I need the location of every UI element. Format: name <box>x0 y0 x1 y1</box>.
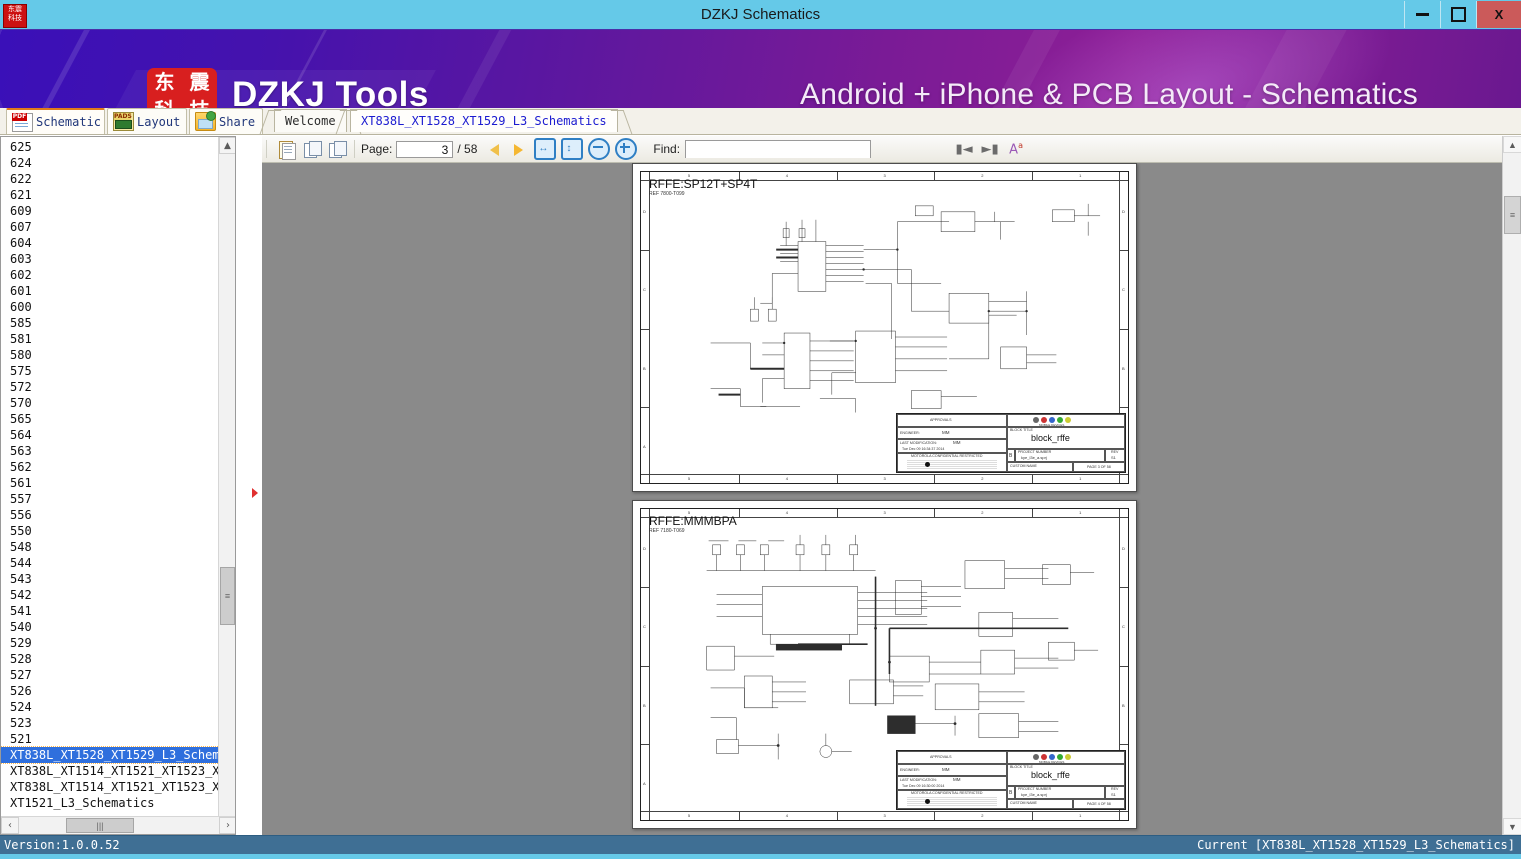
tree-item-number[interactable]: 570 <box>1 395 219 411</box>
pdf-viewer[interactable]: 54321 54321 DCBA DCBA RFFE:SP12T+SP4T RE… <box>262 163 1502 835</box>
tree-item-number[interactable]: 604 <box>1 235 219 251</box>
next-page-button[interactable] <box>507 139 529 160</box>
status-bar: Version:1.0.0.52 Current [XT838L_XT1528_… <box>0 835 1521 859</box>
banner-tagline: Android + iPhone & PCB Layout - Schemati… <box>800 78 1418 108</box>
rev-label: REV <box>1111 450 1118 454</box>
pdf-toolbar: Page: 3 / 58 ↔ ↕ Find: ▮◄ ►▮ <box>262 136 1521 163</box>
project-number-value: kye_l3e_a.sprj <box>1021 455 1047 460</box>
custom-name-label: CUSTOM NAME <box>1010 464 1037 468</box>
tree-item-number[interactable]: 556 <box>1 507 219 523</box>
grip-icon: ||| <box>96 821 103 831</box>
viewer-scroll-up-button[interactable]: ▲ <box>1503 136 1521 153</box>
copyright-icon <box>925 462 930 467</box>
circuit-diagram <box>651 184 1118 432</box>
chevron-left-icon: ‹ <box>8 820 12 831</box>
tree-item-number[interactable]: 585 <box>1 315 219 331</box>
tree-item-number[interactable]: 543 <box>1 571 219 587</box>
tree-item-number[interactable]: 548 <box>1 539 219 555</box>
doc-tab-welcome[interactable]: Welcome <box>274 109 347 132</box>
tree-item-file[interactable]: XT838L_XT1514_XT1521_XT1523_XT1524_XT1 <box>1 779 219 795</box>
ruler-tick <box>837 812 838 820</box>
ruler-tick <box>1120 329 1128 330</box>
tree-item-number[interactable]: 624 <box>1 155 219 171</box>
rev-label: REV <box>1111 787 1118 791</box>
ruler-tick <box>1032 475 1033 483</box>
tree-item-number[interactable]: 563 <box>1 443 219 459</box>
ruler-tick <box>837 475 838 483</box>
tree-horizontal-scrollbar[interactable]: ‹ ||| › <box>1 816 236 834</box>
block-title-label: BLOCK TITLE <box>1010 765 1033 769</box>
ruler-tick <box>837 509 838 517</box>
tree-item-file[interactable]: XT1521_L3_Schematics <box>1 795 219 811</box>
mode-tab-label: Share <box>219 115 255 129</box>
tree-item-number[interactable]: 523 <box>1 715 219 731</box>
window-title: DZKJ Schematics <box>0 0 1521 30</box>
tree-item-number[interactable]: 528 <box>1 651 219 667</box>
project-number-label: PROJECT NUMBER <box>1018 787 1051 791</box>
ruler-tick <box>1120 744 1128 745</box>
logo-char: 震 <box>190 72 210 92</box>
tree-vertical-scrollbar[interactable]: ▲ ≡ ▼ <box>218 137 235 834</box>
ruler-label: D <box>643 546 646 551</box>
tree-item-number[interactable]: 575 <box>1 363 219 379</box>
last-modification-date: Tue Dec 09 16:30:00 2014 <box>902 784 944 788</box>
status-version: Version:1.0.0.52 <box>4 838 120 852</box>
tree-item-number[interactable]: 572 <box>1 379 219 395</box>
chevron-right-icon: › <box>226 820 230 831</box>
tree-item-number[interactable]: 562 <box>1 459 219 475</box>
ruler-tick <box>934 812 935 820</box>
ruler-tick <box>739 475 740 483</box>
ruler-tick <box>1120 250 1128 251</box>
ruler-label: B <box>643 366 646 371</box>
status-underline <box>0 854 1521 859</box>
mode-tab-schematic[interactable]: Schematic <box>6 108 105 134</box>
ruler-label: 1 <box>1079 510 1081 515</box>
zoom-in-button[interactable] <box>615 138 637 160</box>
tree-item-number[interactable]: 607 <box>1 219 219 235</box>
schematic-tree-panel: 6256246226216096076046036026016005855815… <box>0 136 236 835</box>
tree-item-number[interactable]: 564 <box>1 427 219 443</box>
engineer-value: MM <box>942 767 950 772</box>
mode-tab-bar: Schematic Layout Share <box>0 108 1521 135</box>
status-current-file: Current [XT838L_XT1528_XT1529_L3_Schemat… <box>1197 838 1515 852</box>
page-ruler-bottom: 54321 <box>641 811 1128 820</box>
tree-item-number[interactable]: 524 <box>1 699 219 715</box>
tree-scroll-up-button[interactable]: ▲ <box>219 137 236 154</box>
ruler-tick <box>837 172 838 180</box>
pads-icon <box>113 112 134 131</box>
page-ruler-bottom: 54321 <box>641 474 1128 483</box>
zoom-in-icon-bar <box>623 143 625 153</box>
find-input-wrapper[interactable] <box>685 140 871 158</box>
page-border: 54321 54321 DCBA DCBA RFFE:MMMBPA REF 71… <box>640 508 1129 821</box>
fit-width-icon: ↔ <box>538 144 548 153</box>
last-modification-date: Tue Dec 09 16:34:37 2014 <box>902 447 944 451</box>
application-window: 东震科技 DZKJ Schematics X 东 震 科 技 DZKJ Tool… <box>0 0 1521 859</box>
tree-item-number[interactable]: 544 <box>1 555 219 571</box>
schematic-page[interactable]: 54321 54321 DCBA DCBA RFFE:SP12T+SP4T RE… <box>632 163 1137 492</box>
title-block: APPROVALS ENGINEER: MM LAST MODIFICATION… <box>896 413 1126 473</box>
tree-hscroll-thumb[interactable]: ||| <box>66 818 134 833</box>
ruler-label: A <box>643 781 646 786</box>
chevron-up-icon: ▲ <box>1508 140 1517 150</box>
panel-splitter[interactable] <box>250 136 261 835</box>
logo-char: 东 <box>155 72 175 92</box>
find-options-icon: Aa <box>1009 141 1023 157</box>
tree-item-number[interactable]: 603 <box>1 251 219 267</box>
ruler-tick <box>739 812 740 820</box>
ruler-label: 4 <box>786 510 788 515</box>
tree-item-number[interactable]: 561 <box>1 475 219 491</box>
last-modification-by: MM <box>953 440 961 445</box>
restricted-label: MOTOROLA CONFIDENTIAL RESTRICTED <box>911 454 982 458</box>
project-number-label: PROJECT NUMBER <box>1018 450 1051 454</box>
block-title-value: block_rffe <box>1031 770 1070 780</box>
tree-scroll-thumb[interactable]: ≡ <box>220 567 235 625</box>
tree-item-number[interactable]: 527 <box>1 667 219 683</box>
close-icon: X <box>1495 7 1504 22</box>
schematic-page[interactable]: 54321 54321 DCBA DCBA RFFE:MMMBPA REF 71… <box>632 500 1137 829</box>
tree-item-number[interactable]: 600 <box>1 299 219 315</box>
tree-item-number[interactable]: 625 <box>1 139 219 155</box>
ruler-label: D <box>1122 209 1125 214</box>
ruler-label: 4 <box>786 813 788 818</box>
viewer-vertical-scrollbar[interactable]: ▲ ≡ ▼ <box>1502 136 1521 835</box>
tree-item-number[interactable]: 601 <box>1 283 219 299</box>
find-previous-button[interactable]: ▮◄ <box>953 139 975 160</box>
restricted-label: MOTOROLA CONFIDENTIAL RESTRICTED <box>911 791 982 795</box>
ruler-label: D <box>1122 546 1125 551</box>
approvals-label: APPROVALS <box>930 755 952 759</box>
maximize-button[interactable] <box>1440 1 1476 28</box>
viewer-scroll-down-button[interactable]: ▼ <box>1503 818 1521 835</box>
ruler-tick <box>739 509 740 517</box>
ruler-tick <box>641 250 649 251</box>
tree-item-number[interactable]: 609 <box>1 203 219 219</box>
ruler-label: C <box>1122 624 1125 629</box>
rev-value: S1 <box>1111 792 1116 797</box>
doc-tab-label: XT838L_XT1528_XT1529_L3_Schematics <box>361 114 607 128</box>
pdf-icon <box>12 113 33 132</box>
title-block: APPROVALS ENGINEER: MM LAST MODIFICATION… <box>896 750 1126 810</box>
ruler-label: B <box>1122 366 1125 371</box>
ruler-tick <box>934 475 935 483</box>
ruler-tick <box>934 172 935 180</box>
tree-item-number[interactable]: 622 <box>1 171 219 187</box>
tree-list[interactable]: 6256246226216096076046036026016005855815… <box>1 139 219 811</box>
minimize-button[interactable] <box>1404 1 1440 28</box>
ruler-tick <box>934 509 935 517</box>
find-next-button[interactable]: ►▮ <box>979 139 1001 160</box>
ruler-label: 3 <box>884 510 886 515</box>
engineer-value: MM <box>942 430 950 435</box>
triangle-left-icon <box>490 144 499 156</box>
splitter-collapse-icon[interactable] <box>252 488 258 498</box>
tree-item-file[interactable]: XT838L_XT1528_XT1529_L3_Schematics <box>1 747 219 763</box>
last-modification-label: LAST MODIFICATION: <box>900 441 937 445</box>
block-title-label: BLOCK TITLE <box>1010 428 1033 432</box>
ruler-tick <box>641 666 649 667</box>
approvals-label: APPROVALS <box>930 418 952 422</box>
zoom-out-icon <box>593 146 603 148</box>
ruler-label: 1 <box>1079 476 1081 481</box>
page-border: 54321 54321 DCBA DCBA RFFE:SP12T+SP4T RE… <box>640 171 1129 484</box>
ruler-label: 2 <box>981 173 983 178</box>
last-modification-label: LAST MODIFICATION: <box>900 778 937 782</box>
copyright-icon <box>925 799 930 804</box>
tree-scroll-right-button[interactable]: › <box>219 817 236 834</box>
rev-value: S1 <box>1111 455 1116 460</box>
find-input[interactable] <box>686 142 870 158</box>
page-of-label: PAGE 4 OF 58 <box>1087 802 1111 806</box>
triangle-right-icon <box>514 144 523 156</box>
size-value: B <box>1009 453 1012 459</box>
find-previous-icon: ▮◄ <box>955 142 972 157</box>
mode-tab-label: Layout <box>137 115 180 129</box>
tree-item-number[interactable]: 557 <box>1 491 219 507</box>
tree-item-file[interactable]: XT838L_XT1514_XT1521_XT1523_XT1524_XT1 <box>1 763 219 779</box>
mode-tab-label: Schematic <box>36 115 101 129</box>
fit-width-button[interactable]: ↔ <box>534 138 556 160</box>
ruler-label: 1 <box>1079 813 1081 818</box>
chevron-down-icon: ▼ <box>1508 822 1517 832</box>
ruler-tick <box>641 587 649 588</box>
ruler-tick <box>1120 587 1128 588</box>
logo-char: 技 <box>190 100 210 108</box>
tree-item-number[interactable]: 565 <box>1 411 219 427</box>
ruler-label: D <box>643 209 646 214</box>
tree-item-number[interactable]: 581 <box>1 331 219 347</box>
page-total-label: / 58 <box>457 142 477 156</box>
custom-name-label: CUSTOM NAME <box>1010 801 1037 805</box>
ruler-label: A <box>643 444 646 449</box>
title-bar: 东震科技 DZKJ Schematics X <box>0 0 1521 30</box>
ruler-tick <box>1120 666 1128 667</box>
find-options-button[interactable]: Aa <box>1005 139 1027 160</box>
fit-page-icon: ↕ <box>566 144 571 153</box>
doc-tab-label: Welcome <box>285 114 336 128</box>
ruler-label: B <box>1122 703 1125 708</box>
size-value: B <box>1009 790 1012 796</box>
tree-item-number[interactable]: 540 <box>1 619 219 635</box>
ruler-label: 3 <box>884 813 886 818</box>
ruler-tick <box>1032 509 1033 517</box>
find-next-icon: ►▮ <box>981 142 998 157</box>
grip-icon: ≡ <box>1510 210 1515 220</box>
previous-page-button[interactable] <box>485 139 507 160</box>
ruler-label: B <box>643 703 646 708</box>
grip-icon: ≡ <box>225 591 230 601</box>
ruler-label: 3 <box>884 476 886 481</box>
logo-char: 科 <box>155 100 175 108</box>
legal-text-block <box>907 460 997 469</box>
ruler-tick <box>641 329 649 330</box>
zoom-out-button[interactable] <box>588 138 610 160</box>
find-label: Find: <box>653 142 680 156</box>
dzkj-logo-icon: 东 震 科 技 <box>147 68 217 108</box>
banner-streak <box>435 30 516 108</box>
tree-item-number[interactable]: 521 <box>1 731 219 747</box>
engineer-label: ENGINEER: <box>900 768 920 772</box>
page-label: Page: <box>361 142 392 156</box>
ruler-label: C <box>1122 287 1125 292</box>
ruler-label: C <box>643 287 646 292</box>
page-of-label: PAGE 3 OF 58 <box>1087 465 1111 469</box>
tree-item-number[interactable]: 580 <box>1 347 219 363</box>
brand-banner: 东 震 科 技 DZKJ Tools Android + iPhone & PC… <box>0 30 1521 108</box>
tree-item-number[interactable]: 621 <box>1 187 219 203</box>
tree-scroll-left-button[interactable]: ‹ <box>1 817 19 834</box>
minimize-icon <box>1416 13 1429 16</box>
ruler-label: 2 <box>981 476 983 481</box>
ruler-tick <box>641 407 649 408</box>
viewer-scroll-thumb[interactable]: ≡ <box>1504 196 1521 234</box>
window-controls: X <box>1404 1 1521 28</box>
copy-left-icon[interactable] <box>301 139 323 160</box>
engineer-label: ENGINEER: <box>900 431 920 435</box>
legal-text-block <box>907 797 997 806</box>
brand-name: DZKJ Tools <box>232 75 429 108</box>
page-ruler-left: DCBA <box>641 172 650 483</box>
copy-page-icon[interactable] <box>276 139 298 160</box>
tree-item-number[interactable]: 602 <box>1 267 219 283</box>
circuit-diagram <box>651 521 1118 769</box>
fit-page-button[interactable]: ↕ <box>561 138 583 160</box>
page-ruler-left: DCBA <box>641 509 650 820</box>
project-number-value: kye_l3e_a.sprj <box>1021 792 1047 797</box>
page-number-input[interactable]: 3 <box>396 141 453 158</box>
mode-tab-layout[interactable]: Layout <box>107 108 187 134</box>
tree-item-number[interactable]: 550 <box>1 523 219 539</box>
zoom-in-icon <box>620 146 630 148</box>
doc-tab-schematics-file[interactable]: XT838L_XT1528_XT1529_L3_Schematics x <box>350 109 618 132</box>
ruler-tick <box>1032 172 1033 180</box>
last-modification-by: MM <box>953 777 961 782</box>
ruler-tick <box>1120 407 1128 408</box>
ruler-label: 5 <box>688 813 690 818</box>
ruler-label: 3 <box>884 173 886 178</box>
folder-share-icon <box>195 112 216 131</box>
ruler-tick <box>1032 812 1033 820</box>
chevron-up-icon: ▲ <box>224 141 231 151</box>
ruler-label: 2 <box>981 510 983 515</box>
ruler-label: 4 <box>786 476 788 481</box>
tree-item-number[interactable]: 529 <box>1 635 219 651</box>
ruler-label: 5 <box>688 476 690 481</box>
ruler-tick <box>641 744 649 745</box>
tree-item-number[interactable]: 526 <box>1 683 219 699</box>
ruler-label: 4 <box>786 173 788 178</box>
block-title-value: block_rffe <box>1031 433 1070 443</box>
tree-item-number[interactable]: 541 <box>1 603 219 619</box>
ruler-label: 2 <box>981 813 983 818</box>
banner-streak <box>25 30 100 108</box>
maximize-icon <box>1451 7 1466 22</box>
ruler-label: 1 <box>1079 173 1081 178</box>
ruler-label: C <box>643 624 646 629</box>
copy-right-icon[interactable] <box>326 139 348 160</box>
tree-item-number[interactable]: 542 <box>1 587 219 603</box>
close-button[interactable]: X <box>1476 1 1521 28</box>
mode-tab-share[interactable]: Share <box>189 108 263 134</box>
